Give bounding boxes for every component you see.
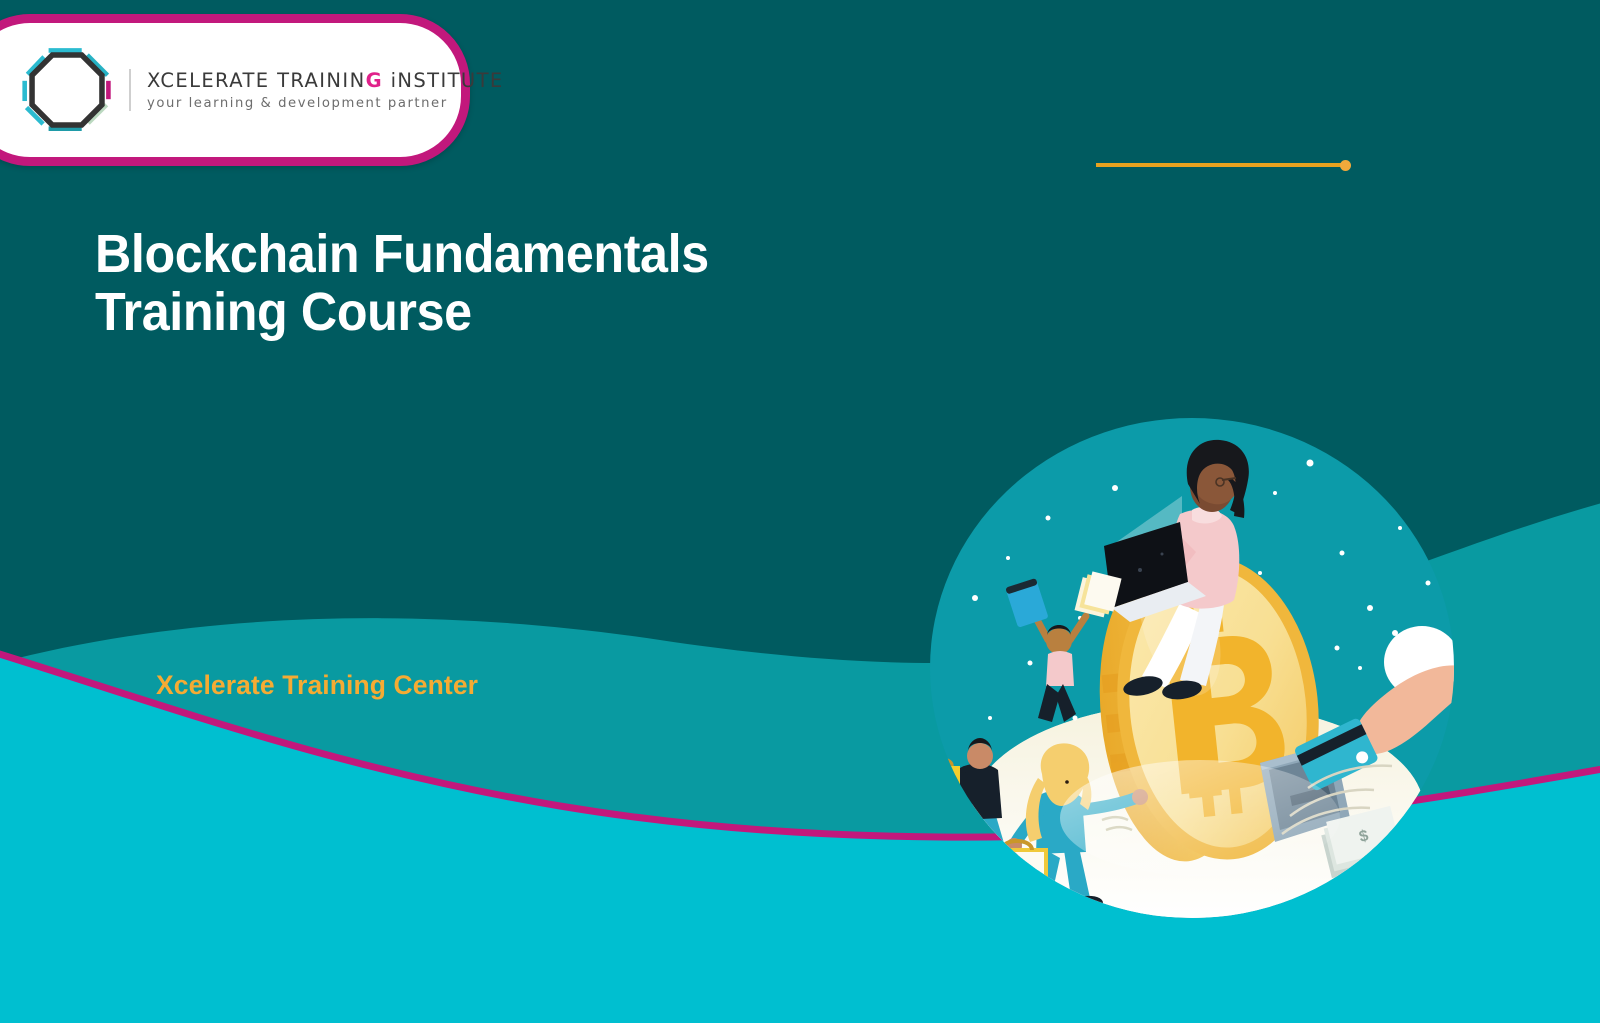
page-title-line-2: Training Course bbox=[95, 283, 802, 341]
brand-logo-card[interactable]: XCELERATE TRAINING iNSTITUTE your learni… bbox=[0, 14, 470, 166]
gold-dot-icon bbox=[1340, 160, 1351, 171]
brand-text-block: XCELERATE TRAINING iNSTITUTE your learni… bbox=[129, 69, 504, 111]
token-bag: token bbox=[988, 841, 1046, 924]
blockchain-illustration: token bbox=[930, 418, 1475, 938]
octagon-logo-icon bbox=[21, 44, 113, 136]
organization-label: Xcelerate Training Center bbox=[156, 670, 478, 701]
ethereum-bag bbox=[930, 759, 960, 819]
ethereum-symbol bbox=[930, 778, 948, 808]
brand-tagline: your learning & development partner bbox=[147, 96, 504, 111]
slide-canvas: XCELERATE TRAINING iNSTITUTE your learni… bbox=[0, 0, 1600, 1023]
gold-divider-line bbox=[1096, 163, 1346, 167]
page-title-line-1: Blockchain Fundamentals bbox=[95, 225, 802, 283]
brand-name: XCELERATE TRAINING iNSTITUTE bbox=[147, 69, 504, 92]
token-bag-label: token bbox=[998, 880, 1035, 896]
page-title: Blockchain Fundamentals Training Course bbox=[95, 225, 802, 341]
